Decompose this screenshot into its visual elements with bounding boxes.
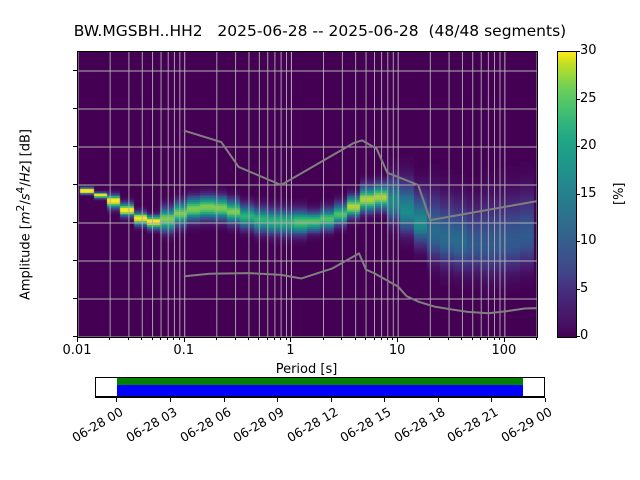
x-axis-tick-mark [235, 337, 236, 340]
colorbar-tick-label: 0 [580, 328, 588, 343]
x-axis-tick-mark [286, 337, 287, 340]
x-axis-tick-mark [167, 337, 168, 340]
timeline-data-available [117, 385, 522, 396]
x-axis-tick-mark [77, 337, 78, 342]
y-axis-tick-mark [73, 70, 77, 71]
x-axis-tick-mark [461, 337, 462, 340]
ppsd-histogram [78, 52, 537, 337]
x-axis-tick-mark [152, 337, 153, 340]
colorbar-tick-label: 25 [580, 91, 597, 106]
x-axis-tick-mark [499, 337, 500, 340]
timeline-axis-line [95, 397, 545, 398]
x-axis-tick-mark [109, 337, 110, 340]
timeline-tick-mark [331, 398, 332, 402]
x-axis-tick-mark [397, 337, 398, 342]
y-axis-tick-mark [73, 108, 77, 109]
x-axis-tick-mark [290, 337, 291, 342]
x-axis-tick-mark [365, 337, 366, 340]
x-axis-tick-mark [429, 337, 430, 340]
x-axis-tick-mark [494, 337, 495, 340]
x-axis-tick-mark [184, 337, 185, 342]
figure-title: BW.MGSBH..HH2 2025-06-28 -- 2025-06-28 (… [0, 22, 640, 40]
colorbar-tick-label: 5 [580, 281, 588, 296]
x-axis-tick-mark [258, 337, 259, 340]
x-axis-tick-mark [323, 337, 324, 340]
x-axis-tick-mark [341, 337, 342, 340]
y-axis-tick-mark [73, 222, 77, 223]
x-axis-tick-mark [448, 337, 449, 340]
colorbar-label: [%] [612, 183, 627, 206]
x-axis-tick-label: 0.01 [47, 343, 107, 358]
timeline-tick-mark [545, 398, 546, 402]
x-axis-tick-mark [504, 337, 505, 342]
ppsd-plot-area[interactable] [77, 51, 538, 338]
x-axis-tick-mark [355, 337, 356, 340]
x-axis-tick-mark [472, 337, 473, 340]
x-axis-tick-mark [280, 337, 281, 340]
x-axis-tick-label: 100 [474, 343, 534, 358]
x-axis-tick-label: 0.1 [154, 343, 214, 358]
x-axis-tick-mark [248, 337, 249, 340]
y-axis-tick-mark [73, 146, 77, 147]
colorbar-tick-label: 10 [580, 233, 597, 248]
x-axis-tick-mark [179, 337, 180, 340]
timeline-tick-mark [116, 398, 117, 402]
x-axis-tick-mark [374, 337, 375, 340]
x-axis-tick-mark [160, 337, 161, 340]
timeline-tick-mark [170, 398, 171, 402]
x-axis-tick-label: 10 [367, 343, 427, 358]
colorbar-tick-label: 20 [580, 138, 597, 153]
timeline-tick-mark [491, 398, 492, 402]
y-axis-tick-mark [73, 184, 77, 185]
data-coverage-bar[interactable] [95, 377, 545, 397]
x-axis-tick-mark [216, 337, 217, 340]
y-axis-tick-mark [73, 298, 77, 299]
x-axis-tick-mark [381, 337, 382, 340]
x-axis-tick-mark [128, 337, 129, 340]
x-axis-tick-mark [274, 337, 275, 340]
x-axis-tick-mark [487, 337, 488, 340]
timeline-tick-mark [438, 398, 439, 402]
timeline-tick-mark [384, 398, 385, 402]
timeline-segments-used [117, 378, 522, 385]
x-axis-tick-mark [387, 337, 388, 340]
colorbar-tick-label: 30 [580, 43, 597, 58]
timeline-tick-mark [277, 398, 278, 402]
ppsd-figure: BW.MGSBH..HH2 2025-06-28 -- 2025-06-28 (… [0, 0, 640, 480]
x-axis-tick-mark [392, 337, 393, 340]
colorbar-tick-label: 15 [580, 186, 597, 201]
x-axis-label: Period [s] [77, 362, 536, 377]
x-axis-tick-mark [536, 337, 537, 340]
x-axis-tick-mark [141, 337, 142, 340]
x-axis-tick-mark [267, 337, 268, 340]
x-axis-tick-mark [480, 337, 481, 340]
colorbar [557, 51, 577, 338]
y-axis-tick-mark [73, 260, 77, 261]
x-axis-tick-label: 1 [260, 343, 320, 358]
x-axis-tick-mark [173, 337, 174, 340]
timeline-tick-mark [224, 398, 225, 402]
y-axis-label: Amplitude [m2/s4/Hz] [dB] [14, 129, 33, 300]
